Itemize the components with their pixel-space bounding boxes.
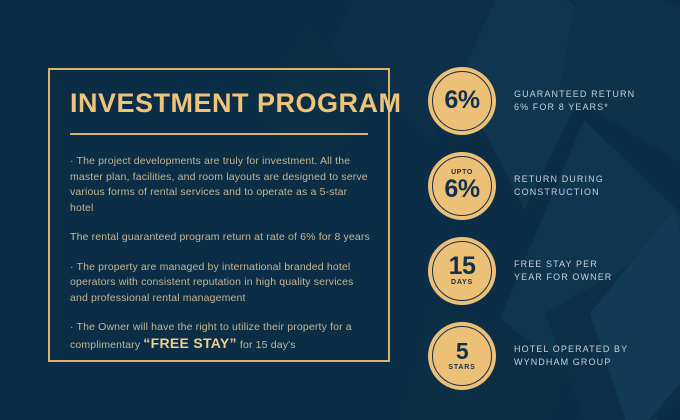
paragraph: · The project developments are truly for…	[70, 154, 372, 216]
badge-label: GUARANTEED RETURN 6% FOR 8 YEARS*	[514, 88, 635, 114]
badge-label-line1: GUARANTEED RETURN	[514, 88, 635, 101]
badge-bottom-text: DAYS	[451, 279, 473, 287]
page-title: INVESTMENT PROGRAM	[70, 88, 402, 119]
badge-coin: 15 DAYS	[428, 237, 496, 305]
paragraph: The rental guaranteed program return at …	[70, 230, 372, 246]
badge-coin: UPTO 6%	[428, 152, 496, 220]
badge-return-during-construction: UPTO 6% RETURN DURING CONSTRUCTION	[428, 143, 668, 228]
badge-value: 15	[449, 253, 476, 280]
investment-program-poster: INVESTMENT PROGRAM · The project develop…	[0, 0, 680, 420]
badge-coin: 5 STARS	[428, 322, 496, 390]
badge-free-stay-days: 15 DAYS FREE STAY PER YEAR FOR OWNER	[428, 228, 668, 313]
badge-label-line1: FREE STAY PER	[514, 258, 612, 271]
content-frame: INVESTMENT PROGRAM · The project develop…	[48, 68, 390, 362]
badge-label: FREE STAY PER YEAR FOR OWNER	[514, 258, 612, 284]
badge-label-line2: WYNDHAM GROUP	[514, 356, 628, 369]
badge-label-line2: 6% FOR 8 YEARS*	[514, 101, 635, 114]
paragraph-list: · The project developments are truly for…	[70, 154, 372, 353]
badge-label: RETURN DURING CONSTRUCTION	[514, 173, 604, 199]
badge-value: 6%	[444, 176, 479, 203]
free-stay-text-after: for 15 day's	[237, 339, 296, 351]
badge-bottom-text: STARS	[448, 364, 475, 372]
badge-column: 6% GUARANTEED RETURN 6% FOR 8 YEARS* UPT…	[428, 58, 668, 398]
badge-coin: 6%	[428, 67, 496, 135]
badge-label-line1: RETURN DURING	[514, 173, 604, 186]
paragraph: · The property are managed by internatio…	[70, 260, 372, 307]
badge-label-line1: HOTEL OPERATED BY	[514, 343, 628, 356]
free-stay-highlight: “FREE STAY”	[143, 335, 237, 351]
title-divider	[70, 133, 368, 135]
badge-label: HOTEL OPERATED BY WYNDHAM GROUP	[514, 343, 628, 369]
badge-guaranteed-return: 6% GUARANTEED RETURN 6% FOR 8 YEARS*	[428, 58, 668, 143]
badge-label-line2: CONSTRUCTION	[514, 186, 604, 199]
badge-label-line2: YEAR FOR OWNER	[514, 271, 612, 284]
badge-value: 5	[456, 338, 468, 365]
badge-value: 6%	[444, 87, 479, 114]
paragraph-free-stay: · The Owner will have the right to utili…	[70, 320, 372, 353]
badge-hotel-stars: 5 STARS HOTEL OPERATED BY WYNDHAM GROUP	[428, 313, 668, 398]
